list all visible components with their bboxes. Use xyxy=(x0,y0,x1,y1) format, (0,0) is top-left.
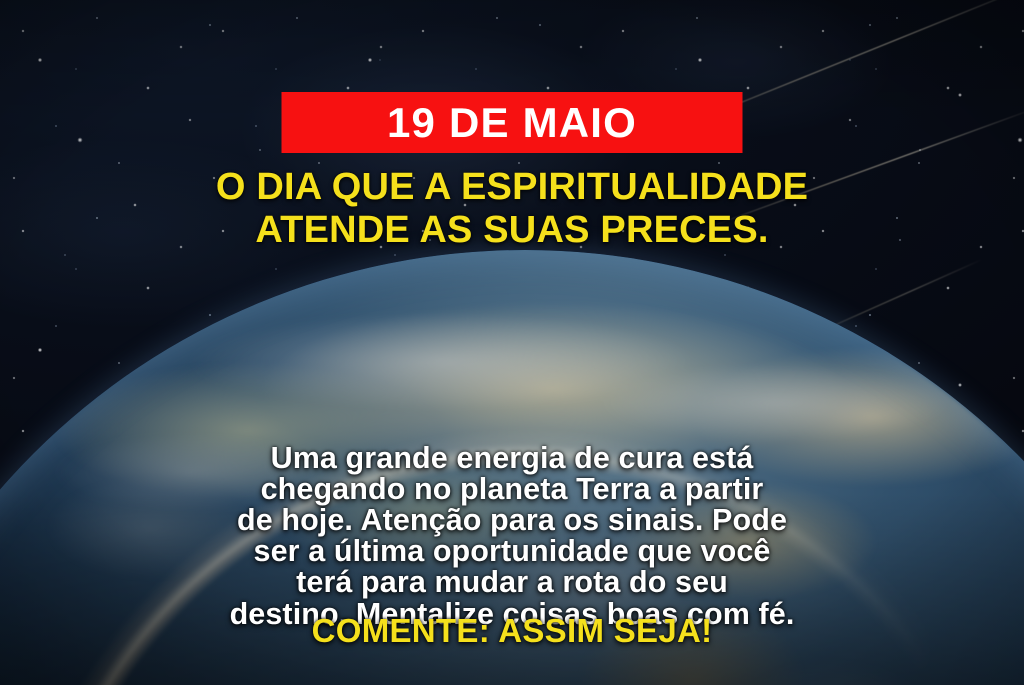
body-line-3: de hoje. Atenção para os sinais. Pode xyxy=(54,505,970,536)
body-paragraph: Uma grande energia de cura está chegando… xyxy=(54,443,970,630)
body-line-1: Uma grande energia de cura está xyxy=(54,443,970,474)
body-line-5: terá para mudar a rota do seu xyxy=(54,567,970,598)
call-to-action-text: COMENTE: ASSIM SEJA! xyxy=(0,614,1024,647)
poster-canvas: 19 DE MAIO O DIA QUE A ESPIRITUALIDADE A… xyxy=(0,0,1024,685)
headline: O DIA QUE A ESPIRITUALIDADE ATENDE AS SU… xyxy=(0,166,1024,251)
date-banner: 19 DE MAIO xyxy=(282,92,743,153)
headline-line-1: O DIA QUE A ESPIRITUALIDADE xyxy=(0,166,1024,209)
poster-content: 19 DE MAIO O DIA QUE A ESPIRITUALIDADE A… xyxy=(0,0,1024,685)
date-banner-label: 19 DE MAIO xyxy=(387,102,637,144)
body-line-2: chegando no planeta Terra a partir xyxy=(54,474,970,505)
headline-line-2: ATENDE AS SUAS PRECES. xyxy=(0,209,1024,252)
body-line-4: ser a última oportunidade que você xyxy=(54,536,970,567)
